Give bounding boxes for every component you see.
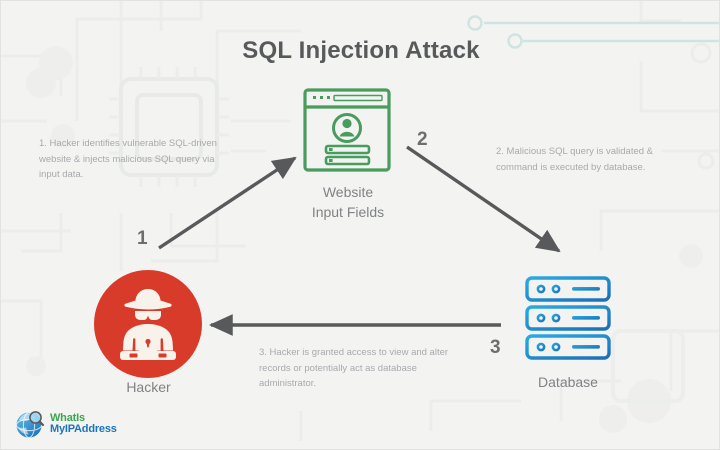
site-logo[interactable]: WhatIs MyIPAddress xyxy=(15,409,117,439)
database-node xyxy=(520,270,616,366)
website-node-label: Website Input Fields xyxy=(273,182,423,223)
infographic-canvas: SQL Injection Attack 1 2 3 1. Hacker ide… xyxy=(0,0,720,450)
page-title: SQL Injection Attack xyxy=(1,37,720,65)
browser-window-login-form-icon xyxy=(302,87,392,173)
server-rack-icon xyxy=(520,270,616,366)
website-input-fields-node xyxy=(302,87,392,173)
hacker-node xyxy=(93,269,203,379)
step-number-2: 2 xyxy=(417,129,428,151)
step-description-1: 1. Hacker identifies vulnerable SQL-driv… xyxy=(39,136,235,183)
hacker-with-laptop-icon xyxy=(93,269,203,379)
step-description-3: 3. Hacker is granted access to view and … xyxy=(259,345,464,392)
database-node-label: Database xyxy=(493,372,643,392)
logo-line-2: MyIPAddress xyxy=(50,424,117,435)
step-number-3: 3 xyxy=(490,337,501,359)
logo-wordmark: WhatIs MyIPAddress xyxy=(50,413,117,435)
website-label-line1: Website xyxy=(323,184,373,200)
globe-magnifier-icon xyxy=(15,409,45,439)
hacker-node-label: Hacker xyxy=(71,377,226,397)
step-description-2: 2. Malicious SQL query is validated & co… xyxy=(496,144,696,175)
website-label-line2: Input Fields xyxy=(312,204,384,220)
step-number-1: 1 xyxy=(137,228,148,250)
